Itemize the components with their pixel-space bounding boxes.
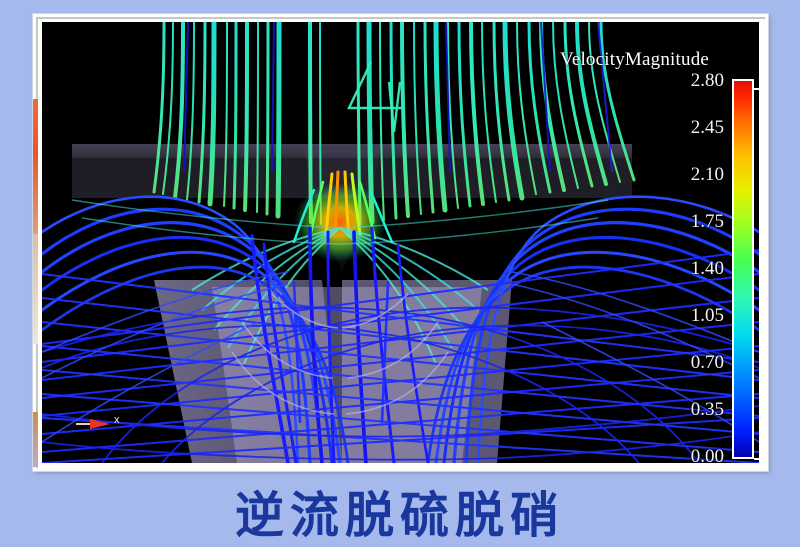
left-secondary-strip (33, 234, 38, 344)
figure-caption: 逆流脱硫脱硝 (0, 476, 800, 547)
axis-label-x: x (114, 414, 120, 426)
cfd-render-canvas: VelocityMagnitude 2.80 2.45 2.10 1.75 1.… (42, 22, 759, 463)
axis-orientation-marker: x (76, 415, 126, 433)
figure-frame: VelocityMagnitude 2.80 2.45 2.10 1.75 1.… (33, 14, 768, 471)
left-accent-strip (33, 99, 38, 234)
streamline-plot (42, 22, 759, 463)
left-tertiary-strip (33, 412, 38, 467)
